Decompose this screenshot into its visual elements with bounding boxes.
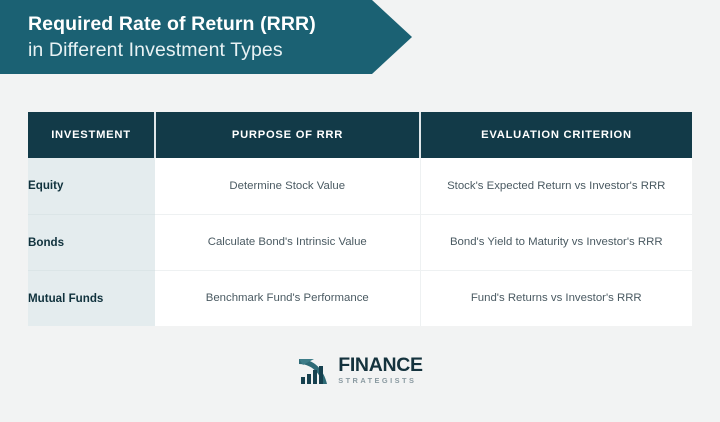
column-header-investment: INVESTMENT	[28, 112, 155, 158]
table-row: Mutual Funds Benchmark Fund's Performanc…	[28, 270, 692, 326]
table-header-row: INVESTMENT PURPOSE OF RRR EVALUATION CRI…	[28, 112, 692, 158]
brand-logo: FINANCE STRATEGISTS	[0, 350, 720, 390]
cell-criterion: Stock's Expected Return vs Investor's RR…	[420, 158, 692, 214]
logo-wordmark: FINANCE STRATEGISTS	[338, 356, 423, 385]
table-row: Equity Determine Stock Value Stock's Exp…	[28, 158, 692, 214]
cell-purpose: Calculate Bond's Intrinsic Value	[155, 214, 420, 270]
cell-investment: Mutual Funds	[28, 270, 155, 326]
table-body: Equity Determine Stock Value Stock's Exp…	[28, 158, 692, 326]
table-row: Bonds Calculate Bond's Intrinsic Value B…	[28, 214, 692, 270]
column-header-purpose: PURPOSE OF RRR	[155, 112, 420, 158]
page-title-line-1: Required Rate of Return (RRR)	[28, 11, 412, 37]
table-header: INVESTMENT PURPOSE OF RRR EVALUATION CRI…	[28, 112, 692, 158]
finance-strategists-chart-arrow-icon	[297, 355, 333, 385]
rrr-comparison-table: INVESTMENT PURPOSE OF RRR EVALUATION CRI…	[28, 112, 692, 326]
cell-purpose: Benchmark Fund's Performance	[155, 270, 420, 326]
column-header-criterion: EVALUATION CRITERION	[420, 112, 692, 158]
cell-criterion: Fund's Returns vs Investor's RRR	[420, 270, 692, 326]
cell-purpose: Determine Stock Value	[155, 158, 420, 214]
logo-name: FINANCE	[338, 356, 423, 376]
page-title-line-2: in Different Investment Types	[28, 37, 412, 63]
header-banner: Required Rate of Return (RRR) in Differe…	[0, 0, 412, 74]
logo-tagline: STRATEGISTS	[338, 377, 423, 384]
cell-investment: Equity	[28, 158, 155, 214]
cell-investment: Bonds	[28, 214, 155, 270]
cell-criterion: Bond's Yield to Maturity vs Investor's R…	[420, 214, 692, 270]
